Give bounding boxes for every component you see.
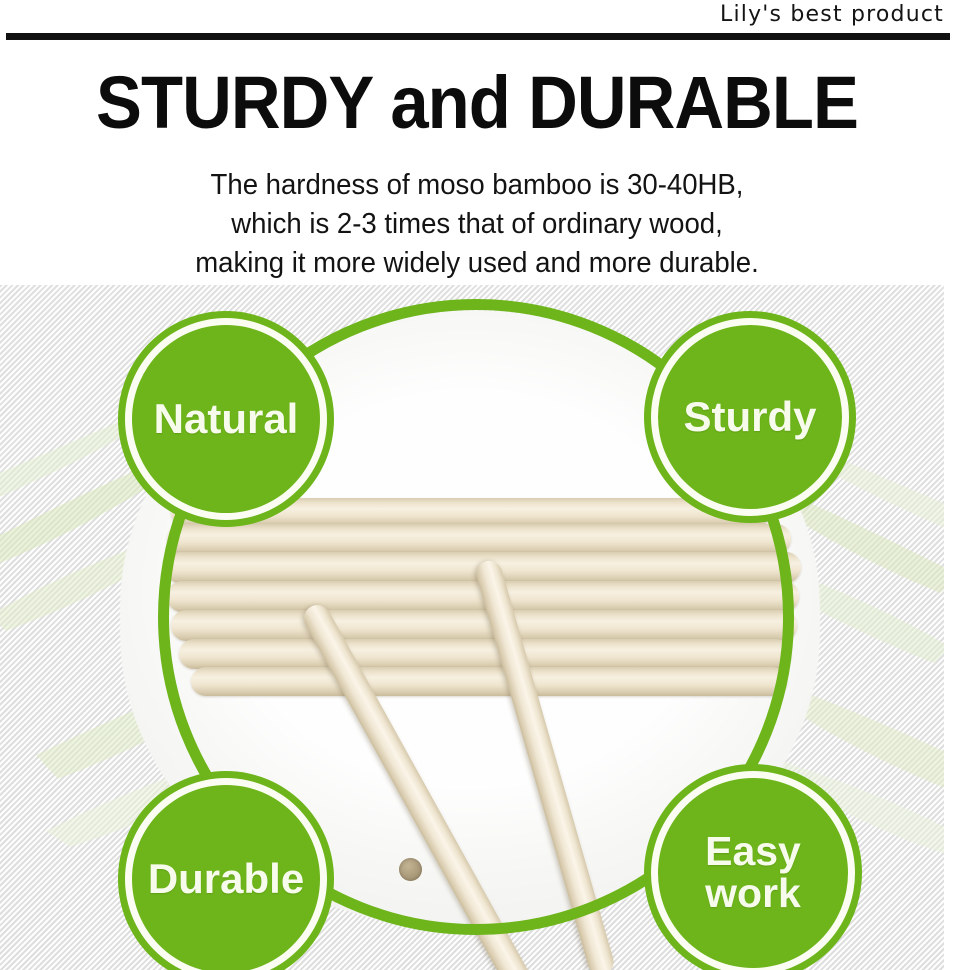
panel-right-margin bbox=[944, 285, 954, 970]
description-line-3: making it more widely used and more dura… bbox=[24, 244, 930, 283]
feature-badge-natural[interactable]: Natural bbox=[132, 325, 320, 513]
feature-badge-natural-label: Natural bbox=[154, 398, 299, 441]
feature-panel: Natural Sturdy Durable Easywork bbox=[0, 285, 944, 970]
page-title: STURDY and DURABLE bbox=[33, 44, 920, 140]
feature-badge-durable-label: Durable bbox=[148, 858, 304, 901]
feature-badge-sturdy-label: Sturdy bbox=[683, 396, 816, 439]
description-line-1: The hardness of moso bamboo is 30-40HB, bbox=[24, 166, 930, 205]
feature-badge-sturdy[interactable]: Sturdy bbox=[658, 325, 842, 509]
feature-badge-easy-work[interactable]: Easywork bbox=[658, 778, 848, 968]
hero-text-block: STURDY and DURABLE The hardness of moso … bbox=[0, 44, 954, 284]
description-line-2: which is 2-3 times that of ordinary wood… bbox=[24, 205, 930, 244]
product-marketing-image: Lily's best product STURDY and DURABLE T… bbox=[0, 0, 954, 970]
header-divider-rule bbox=[6, 33, 950, 40]
feature-badge-durable[interactable]: Durable bbox=[132, 785, 320, 970]
brand-name-text: Lily's best product bbox=[720, 2, 944, 27]
hero-description: The hardness of moso bamboo is 30-40HB, … bbox=[24, 140, 930, 283]
feature-badge-easy-work-label: Easywork bbox=[705, 831, 801, 915]
brand-header: Lily's best product bbox=[0, 0, 954, 36]
